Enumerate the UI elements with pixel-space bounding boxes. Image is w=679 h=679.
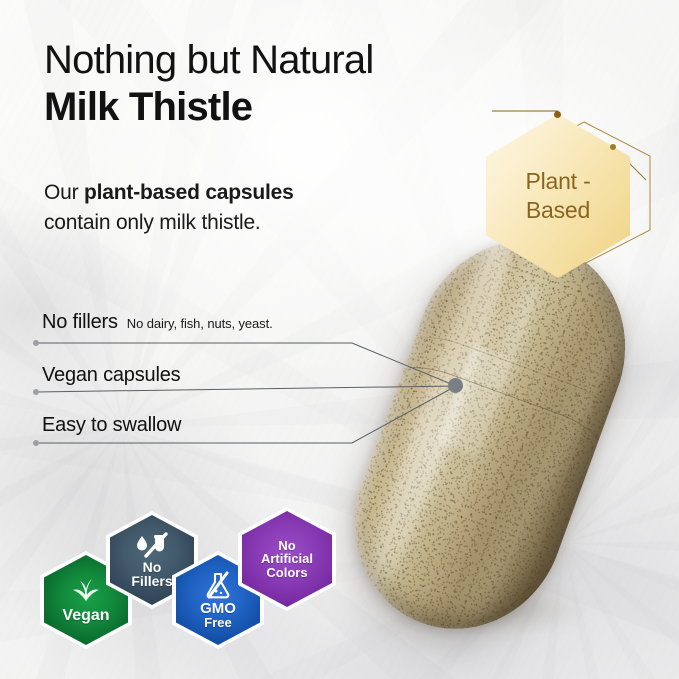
badge-no-fillers-line-1: No	[143, 560, 162, 574]
badge-no-fillers-line-2: Fillers	[131, 574, 172, 588]
product-infographic: Nothing but Natural Milk Thistle Our pla…	[0, 0, 679, 679]
badge-colors-line-2: Artificial	[261, 552, 313, 565]
badge-colors-line-1: No	[278, 539, 295, 552]
badge-vegan-label: Vegan	[62, 608, 109, 624]
leaf-icon	[71, 576, 101, 604]
trust-badge-row: Vegan No Fillers GMO Free	[0, 0, 679, 679]
badge-gmo-free-line-1: GMO	[200, 601, 236, 616]
badge-colors-line-3: Colors	[266, 566, 307, 579]
badge-gmo-free-line-2: Free	[204, 616, 231, 629]
no-flask-icon	[203, 571, 233, 599]
no-fillers-icon	[133, 532, 171, 558]
